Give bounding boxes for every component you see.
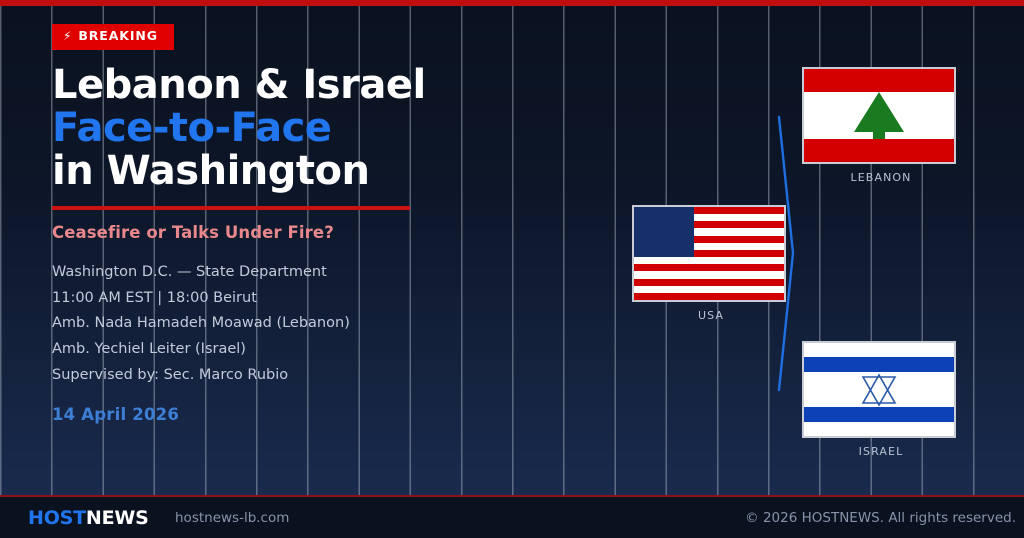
breaking-badge-label: BREAKING bbox=[78, 30, 158, 43]
flag-usa-icon bbox=[632, 205, 786, 302]
flag-caption-lebanon: LEBANON bbox=[802, 171, 960, 184]
flag-caption-usa: USA bbox=[632, 309, 790, 322]
headline-line-3: in Washington bbox=[52, 150, 472, 193]
brand-logo-host: HOST bbox=[28, 507, 86, 529]
top-accent-bar bbox=[0, 0, 1024, 6]
lightning-bolt-icon: ⚡ bbox=[63, 30, 72, 42]
detail-line: 11:00 AM EST | 18:00 Beirut bbox=[52, 286, 472, 312]
detail-line: Washington D.C. — State Department bbox=[52, 260, 472, 286]
detail-line: Amb. Yechiel Leiter (Israel) bbox=[52, 337, 472, 363]
brand-logo-news: NEWS bbox=[86, 507, 149, 529]
flag-usa-canton bbox=[634, 207, 694, 257]
brand-logo: HOST NEWS bbox=[28, 507, 149, 529]
flag-lebanon-icon bbox=[802, 67, 956, 164]
detail-line: Supervised by: Sec. Marco Rubio bbox=[52, 363, 472, 389]
flag-block-israel: ISRAEL bbox=[802, 341, 960, 458]
event-details: Washington D.C. — State Department 11:00… bbox=[52, 260, 472, 390]
subtitle: Ceasefire or Talks Under Fire? bbox=[52, 223, 472, 242]
detail-line: Amb. Nada Hamadeh Moawad (Lebanon) bbox=[52, 311, 472, 337]
flag-israel-icon bbox=[802, 341, 956, 438]
breaking-badge: ⚡ BREAKING bbox=[52, 24, 174, 50]
star-of-david-icon bbox=[859, 372, 899, 408]
flag-block-usa: USA bbox=[632, 205, 790, 322]
event-date: 14 April 2026 bbox=[52, 405, 472, 424]
flag-block-lebanon: LEBANON bbox=[802, 67, 960, 184]
title-divider bbox=[52, 206, 410, 210]
headline-line-2: Face-to-Face bbox=[52, 107, 472, 150]
flag-caption-israel: ISRAEL bbox=[802, 445, 960, 458]
news-card: ⚡ BREAKING Lebanon & Israel Face-to-Face… bbox=[0, 0, 1024, 538]
footer: HOST NEWS hostnews-lb.com © 2026 HOSTNEW… bbox=[0, 495, 1024, 538]
site-url: hostnews-lb.com bbox=[175, 510, 289, 526]
content-column: ⚡ BREAKING Lebanon & Israel Face-to-Face… bbox=[52, 24, 472, 424]
headline-line-1: Lebanon & Israel bbox=[52, 64, 472, 107]
copyright-text: © 2026 HOSTNEWS. All rights reserved. bbox=[745, 510, 1016, 526]
page-title: Lebanon & Israel Face-to-Face in Washing… bbox=[52, 64, 472, 194]
